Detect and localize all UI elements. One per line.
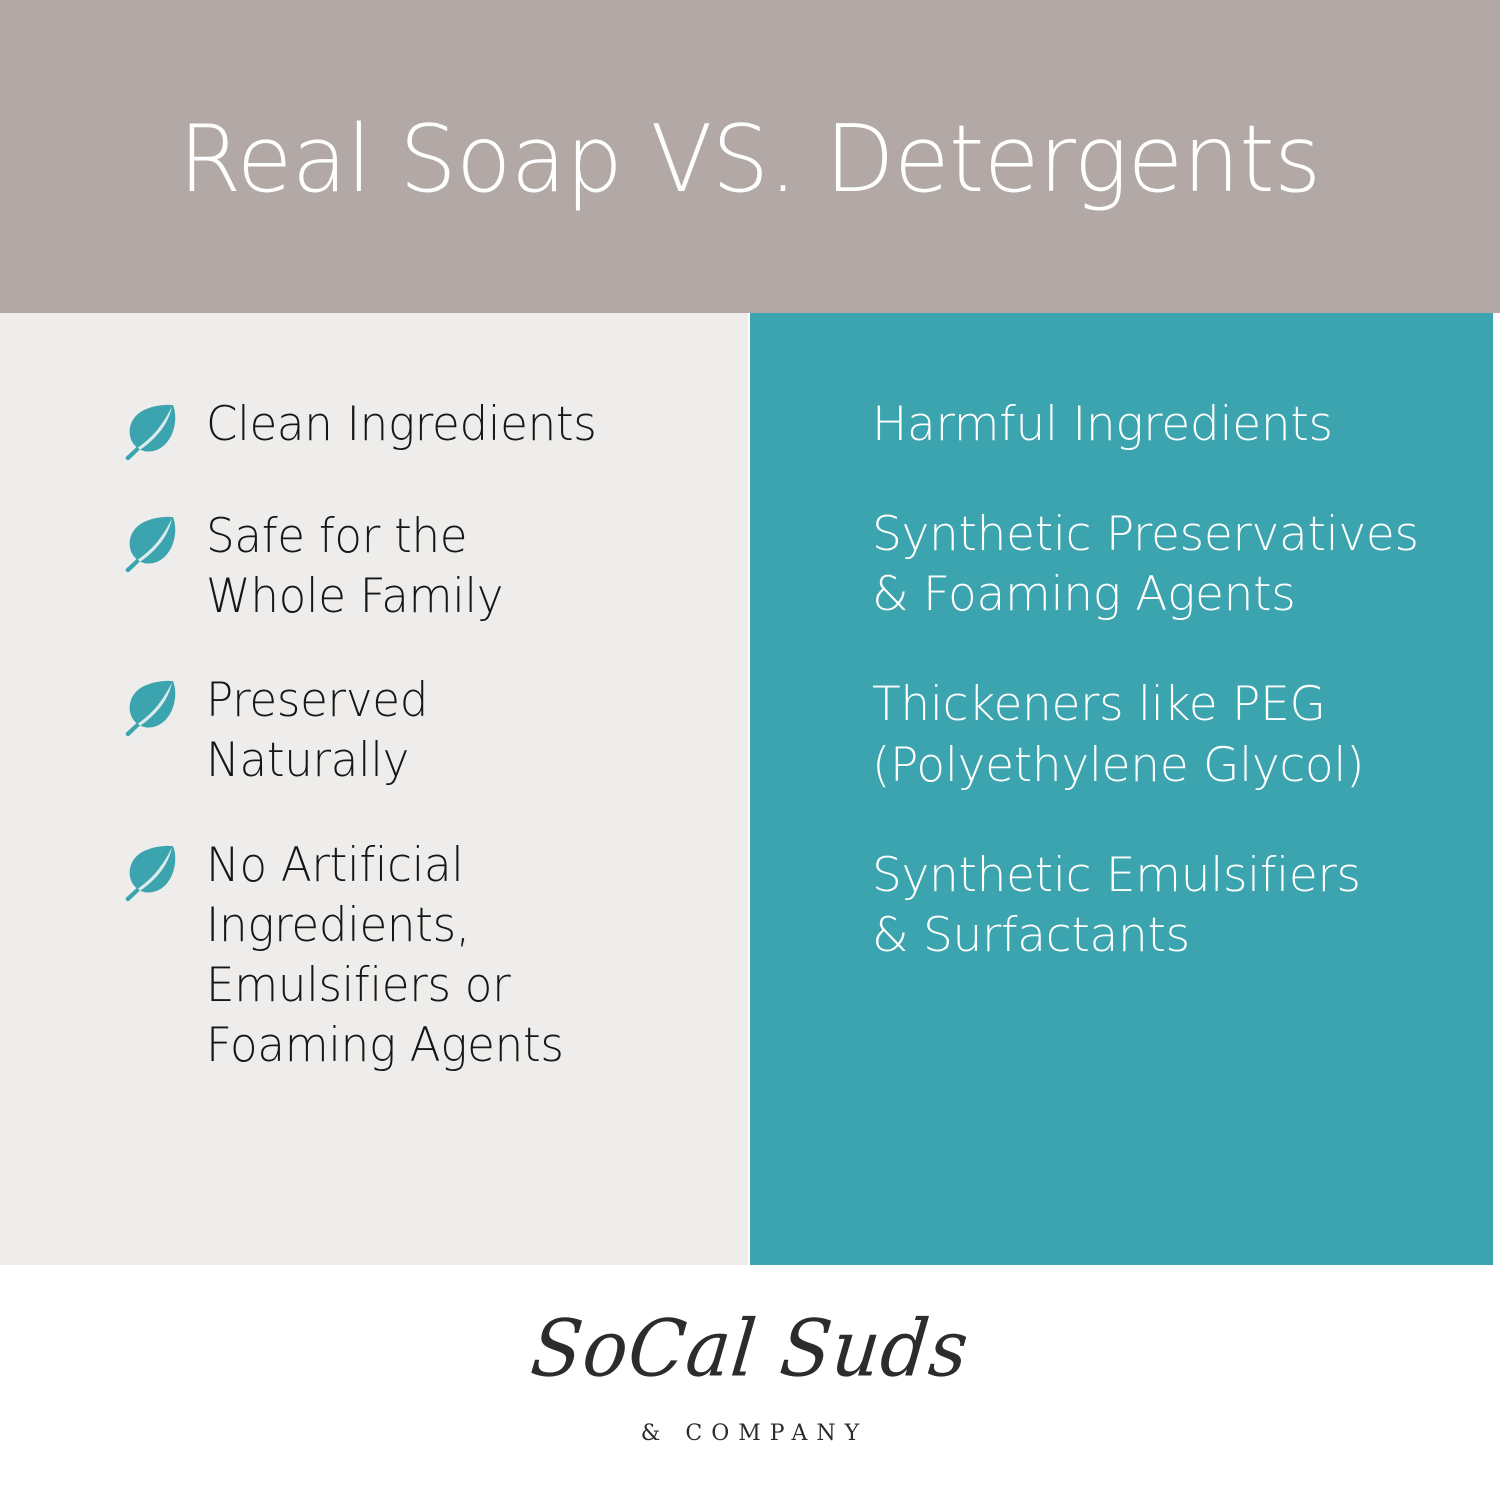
list-item: Clean Ingredients bbox=[122, 395, 722, 463]
list-item: Synthetic Preservatives & Foaming Agents bbox=[872, 505, 1472, 625]
leaf-icon bbox=[122, 513, 184, 575]
real-soap-list: Clean Ingredients Safe for the Whole Fam… bbox=[122, 395, 722, 1120]
page-title: Real Soap VS. Detergents bbox=[179, 113, 1321, 206]
list-item-label: Thickeners like PEG (Polyethylene Glycol… bbox=[872, 677, 1364, 792]
detergents-list: Harmful Ingredients Synthetic Preservati… bbox=[872, 395, 1472, 1016]
list-item: No Artificial Ingredients, Emulsifiers o… bbox=[122, 836, 722, 1077]
list-item-label: Synthetic Emulsifiers & Surfactants bbox=[872, 848, 1361, 963]
page-header: Real Soap VS. Detergents bbox=[0, 0, 1500, 313]
brand-logo-company: & COMPANY bbox=[530, 1421, 970, 1446]
leaf-icon bbox=[122, 842, 184, 904]
brand-logo-script: SoCal Suds bbox=[526, 1308, 975, 1390]
leaf-icon bbox=[122, 401, 184, 463]
list-item-label: Safe for the Whole Family bbox=[206, 507, 503, 627]
panel-divider bbox=[748, 313, 750, 1265]
list-item-label: Harmful Ingredients bbox=[872, 397, 1333, 452]
list-item-label: No Artificial Ingredients, Emulsifiers o… bbox=[206, 836, 564, 1077]
real-soap-panel: Clean Ingredients Safe for the Whole Fam… bbox=[0, 313, 748, 1265]
brand-logo: SoCal Suds & COMPANY bbox=[530, 1309, 970, 1469]
list-item-label: Clean Ingredients bbox=[206, 395, 597, 455]
detergents-panel: Harmful Ingredients Synthetic Preservati… bbox=[750, 313, 1493, 1265]
list-item: Preserved Naturally bbox=[122, 671, 722, 791]
list-item: Safe for the Whole Family bbox=[122, 507, 722, 627]
list-item: Synthetic Emulsifiers & Surfactants bbox=[872, 846, 1472, 966]
list-item: Thickeners like PEG (Polyethylene Glycol… bbox=[872, 675, 1472, 795]
comparison-panels: Clean Ingredients Safe for the Whole Fam… bbox=[0, 313, 1500, 1265]
leaf-icon bbox=[122, 677, 184, 739]
page-footer: SoCal Suds & COMPANY bbox=[0, 1265, 1500, 1500]
list-item-label: Synthetic Preservatives & Foaming Agents bbox=[872, 507, 1419, 622]
list-item-label: Preserved Naturally bbox=[206, 671, 428, 791]
page-right-margin bbox=[1493, 313, 1500, 1265]
list-item: Harmful Ingredients bbox=[872, 395, 1472, 455]
